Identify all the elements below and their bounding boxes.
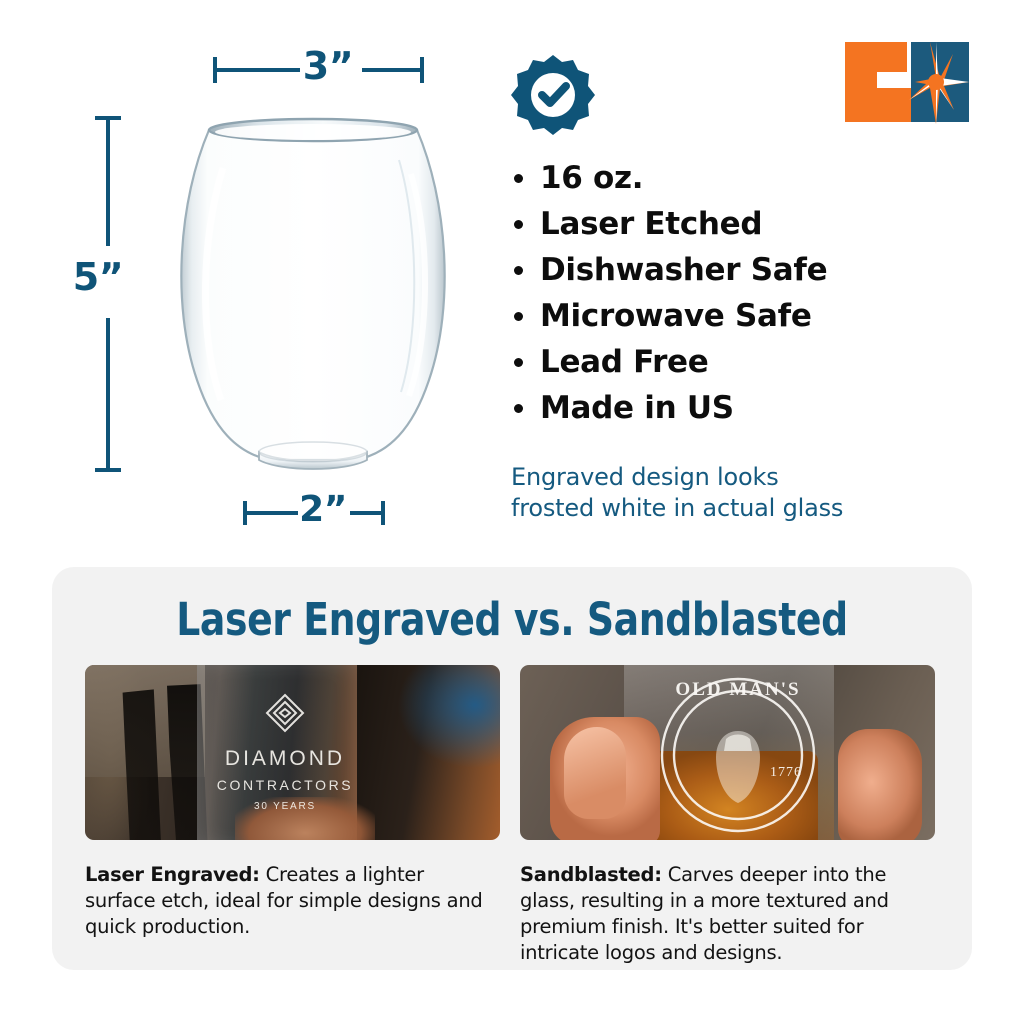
comparison-column-sandblasted: OLD MAN'S 1776 Sandblasted: Carves deepe… [520,665,935,966]
bullet-dot-icon [514,358,523,367]
dimension-cap-bottom-right [381,501,385,525]
etch-brand-subtitle: CONTRACTORS [210,777,360,793]
dimension-line-bottom-left [246,511,298,515]
frosted-note-line-2: frosted white in actual glass [511,493,971,524]
feature-label: Microwave Safe [540,298,812,334]
dimension-label-width-bottom: 2” [294,489,352,530]
etch-brand-name: OLD MAN'S [670,679,806,701]
dimension-line-bottom-right [350,511,384,515]
etch-brand-year: 1776 [756,765,816,781]
feature-list: 16 oz. Laser Etched Dishwasher Safe Micr… [510,155,980,431]
feature-label: Laser Etched [540,206,762,242]
brand-starburst-logo [841,38,973,126]
comparison-column-laser-engraved: DIAMOND CONTRACTORS 30 YEARS Laser Engra… [85,665,500,940]
laser-engraved-caption: Laser Engraved: Creates a lighter surfac… [85,862,500,940]
laser-engraved-photo: DIAMOND CONTRACTORS 30 YEARS [85,665,500,840]
frosted-design-note: Engraved design looks frosted white in a… [511,462,971,524]
dimension-label-width-top: 3” [296,44,360,88]
photo-hand-right [838,729,922,840]
dimension-line-height-top [106,118,110,246]
feature-label: 16 oz. [540,160,643,196]
feature-item: Made in US [510,385,980,431]
sandblasted-caption: Sandblasted: Carves deeper into the glas… [520,862,935,966]
sandblasted-photo: OLD MAN'S 1776 [520,665,935,840]
product-spec-section: 3” 5” 2” [0,0,1024,560]
dimension-cap-bottom-left [243,501,247,525]
feature-item: Dishwasher Safe [510,247,980,293]
dimension-line-top-left [214,68,300,72]
feature-item: Laser Etched [510,201,980,247]
certified-check-badge-icon [511,53,595,137]
dimension-cap-height-bottom [95,468,121,472]
feature-item: 16 oz. [510,155,980,201]
bullet-dot-icon [514,404,523,413]
dimension-label-height: 5” [64,255,132,299]
comparison-panel: Laser Engraved vs. Sandblasted DIAMOND C… [52,567,972,970]
bullet-dot-icon [514,266,523,275]
stemless-wine-glass-image [163,108,463,480]
dimension-cap-top-right [420,57,424,83]
feature-item: Microwave Safe [510,293,980,339]
dimension-cap-top-left [213,57,217,83]
bullet-dot-icon [514,174,523,183]
bullet-dot-icon [514,312,523,321]
comparison-title: Laser Engraved vs. Sandblasted [126,593,899,646]
feature-label: Made in US [540,390,734,426]
diamond-logo-etch-icon [263,691,307,735]
bullet-dot-icon [514,220,523,229]
dimension-line-top-right [362,68,424,72]
feature-label: Dishwasher Safe [540,252,827,288]
feature-label: Lead Free [540,344,709,380]
feature-item: Lead Free [510,339,980,385]
photo-thumb [564,727,626,819]
etch-brand-tagline: 30 YEARS [223,801,347,812]
dimension-line-height-bottom [106,318,110,472]
dimension-cap-height-top [95,116,121,120]
frosted-note-line-1: Engraved design looks [511,462,971,493]
etch-brand-name: DIAMOND [210,747,360,771]
sandblasted-caption-label: Sandblasted: [520,863,662,886]
laser-engraved-caption-label: Laser Engraved: [85,863,260,886]
